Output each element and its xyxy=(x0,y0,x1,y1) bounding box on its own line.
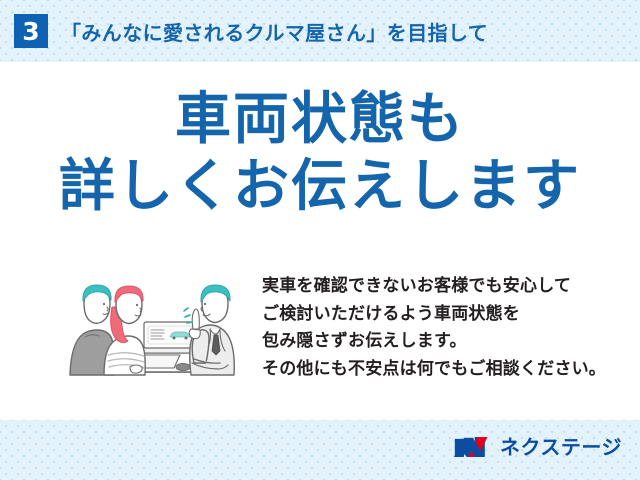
headline-line-2: 詳しくお伝えします xyxy=(0,157,640,216)
header-bar: 3 「みんなに愛されるクルマ屋さん」を目指して xyxy=(0,0,640,62)
body-copy: 実車を確認できないお客様でも安心して ご検討いただけるよう車両状態を 包み隠さず… xyxy=(262,273,622,383)
header-title: 「みんなに愛されるクルマ屋さん」を目指して xyxy=(61,17,488,46)
promo-banner: 3 「みんなに愛されるクルマ屋さん」を目指して 車両状態も 詳しくお伝えします xyxy=(0,0,640,480)
consultation-illustration-svg xyxy=(52,267,252,387)
nextage-n-mark-icon xyxy=(453,434,493,460)
headline-line-1: 車両状態も xyxy=(0,90,640,149)
content-panel: 車両状態も 詳しくお伝えします xyxy=(0,62,640,420)
step-number-badge: 3 xyxy=(14,14,48,48)
headline-group: 車両状態も 詳しくお伝えします xyxy=(0,90,640,217)
body-copy-line-4: その他にも不安点は何でもご相談ください。 xyxy=(262,356,622,384)
consultation-illustration xyxy=(52,267,252,387)
nextage-logo-text: ネクステージ xyxy=(500,437,622,457)
lower-section: 実車を確認できないお客様でも安心して ご検討いただけるよう車両状態を 包み隠さず… xyxy=(0,267,640,417)
body-copy-line-3: 包み隠さずお伝えします。 xyxy=(262,328,622,356)
body-copy-line-1: 実車を確認できないお客様でも安心して xyxy=(262,273,622,301)
nextage-logo: ネクステージ xyxy=(453,432,622,462)
body-copy-line-2: ご検討いただけるよう車両状態を xyxy=(262,301,622,329)
footer-bar: ネクステージ xyxy=(0,420,640,480)
